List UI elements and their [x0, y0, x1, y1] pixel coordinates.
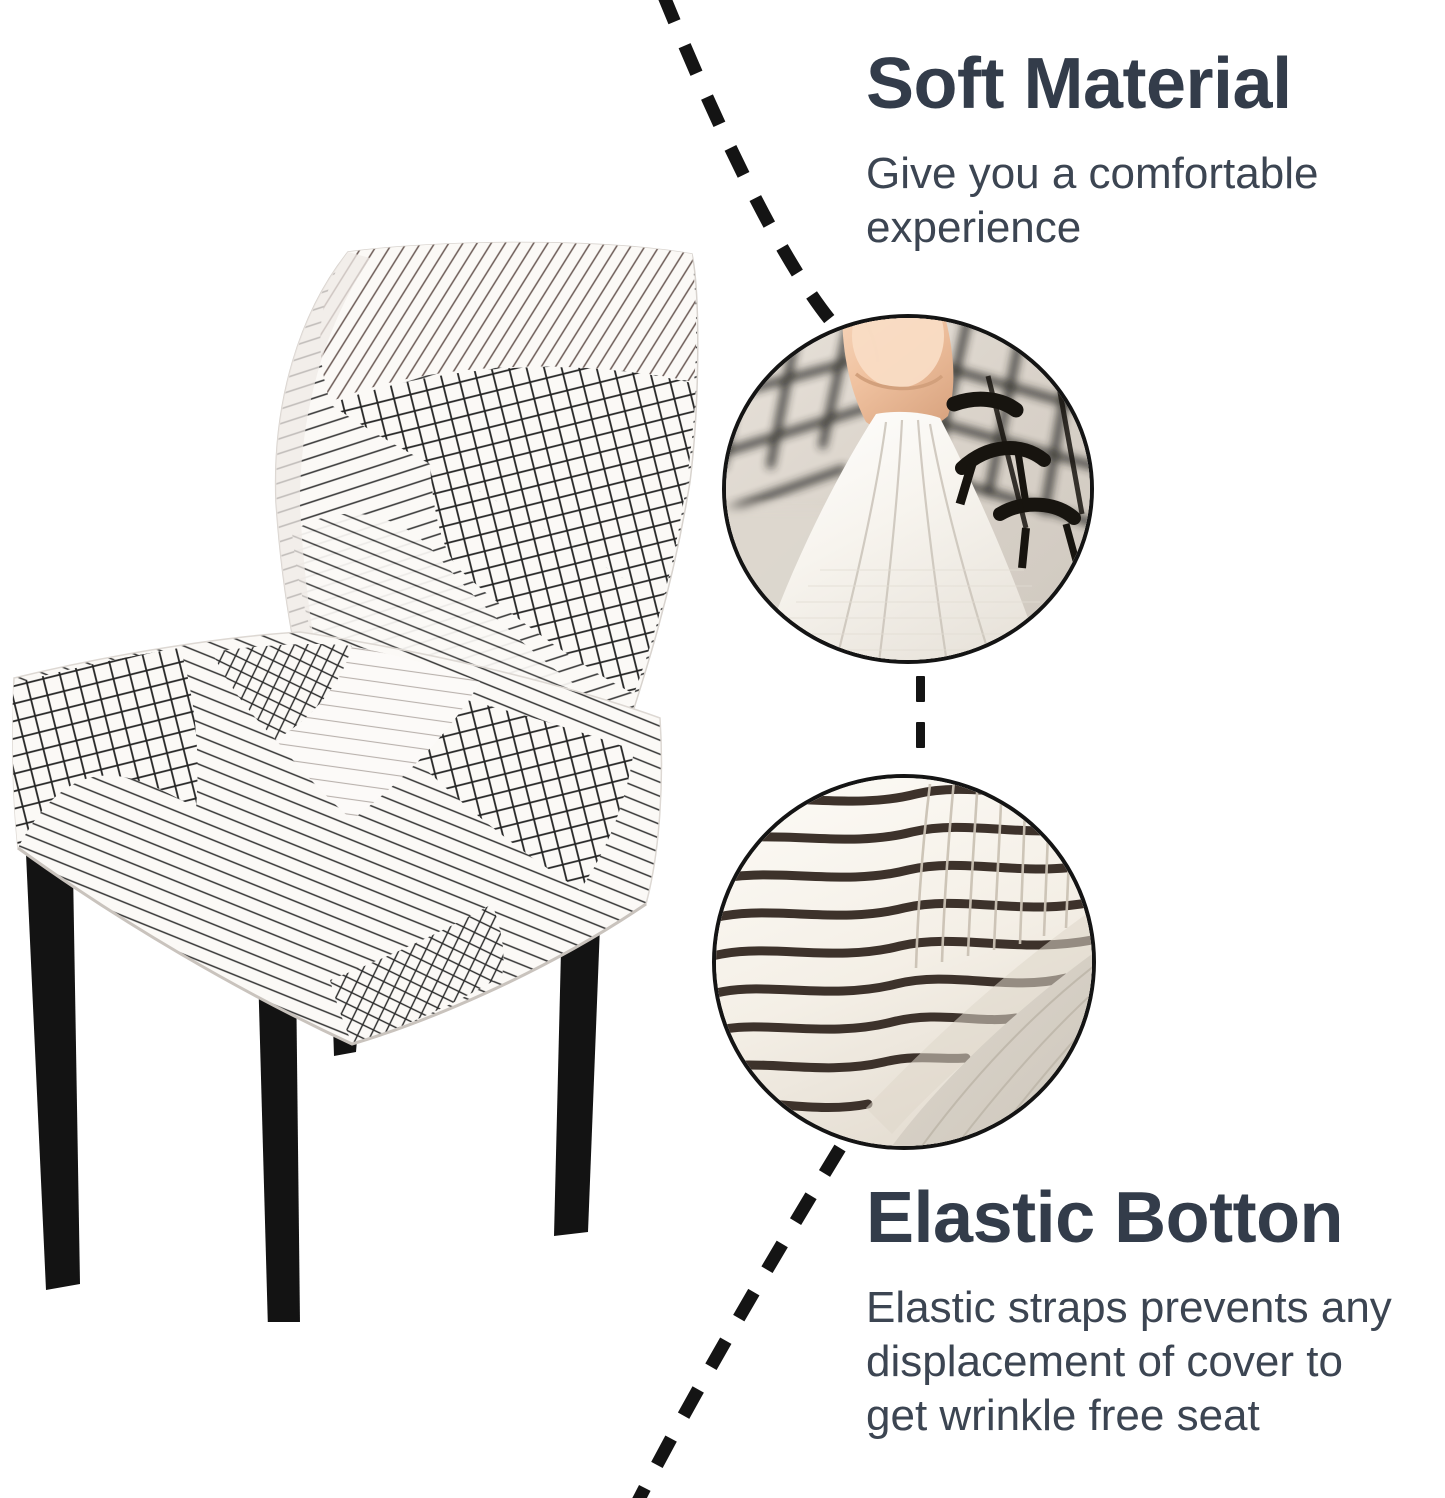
inset-soft-material-photo	[722, 314, 1094, 664]
subcopy-elastic-botton: Elastic straps prevents any displacement…	[866, 1281, 1436, 1442]
chair-product-image	[0, 232, 700, 1322]
subcopy-line-3: get wrinkle free seat	[866, 1391, 1260, 1440]
subcopy-soft-material: Give you a comfortable experience	[866, 147, 1426, 254]
product-feature-graphic: Soft Material Give you a comfortable exp…	[0, 0, 1445, 1498]
inset-connector-dash-top	[916, 676, 925, 702]
headline-elastic-botton: Elastic Botton	[866, 1182, 1436, 1255]
pinch-photo-svg	[726, 318, 1090, 660]
elastic-photo-svg	[716, 778, 1092, 1146]
inset-connector-dash-bottom	[916, 722, 925, 748]
chair-svg	[0, 232, 700, 1322]
headline-soft-material: Soft Material	[866, 48, 1426, 121]
inset-elastic-botton-photo	[712, 774, 1096, 1150]
subcopy-line-1: Elastic straps prevents any	[866, 1283, 1392, 1332]
subcopy-line-1: Give you a comfortable	[866, 149, 1318, 198]
subcopy-line-2: experience	[866, 203, 1081, 252]
feature-text-soft-material: Soft Material Give you a comfortable exp…	[866, 48, 1426, 255]
feature-text-elastic-botton: Elastic Botton Elastic straps prevents a…	[866, 1182, 1436, 1442]
subcopy-line-2: displacement of cover to	[866, 1337, 1343, 1386]
